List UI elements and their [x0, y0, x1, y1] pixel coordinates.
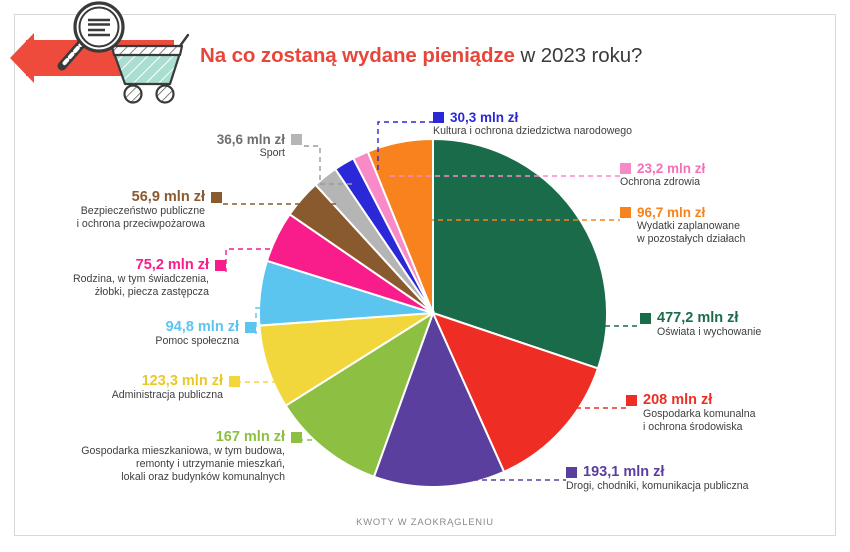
swatch-oswiata [640, 313, 651, 324]
label-pozostale[interactable]: 96,7 mln zł Wydatki zaplanowane w pozost… [620, 205, 745, 246]
swatch-drogi [566, 467, 577, 478]
swatch-pomoc [245, 322, 256, 333]
label-kultura[interactable]: 30,3 mln zł Kultura i ochrona dziedzictw… [433, 110, 632, 138]
label-pozostale-amount: 96,7 mln zł [637, 205, 705, 220]
label-sport-amount: 36,6 mln zł [217, 132, 285, 147]
label-rodzina[interactable]: 75,2 mln zł Rodzina, w tym świadczenia, … [0, 258, 226, 299]
label-zdrowie-desc: Ochrona zdrowia [620, 176, 705, 189]
label-oswiata-desc: Oświata i wychowanie [657, 326, 761, 339]
label-mieszkaniowa-amount: 167 mln zł [216, 430, 285, 445]
label-oswiata[interactable]: 477,2 mln zł Oświata i wychowanie [640, 311, 761, 339]
page-title-highlight: Na co zostaną wydane pieniądze [200, 44, 515, 67]
page-title: Na co zostaną wydane pieniądze w 2023 ro… [200, 44, 642, 68]
label-bezpieczenstwo[interactable]: 56,9 mln zł Bezpieczeństwo publiczne i o… [0, 190, 222, 231]
header: Na co zostaną wydane pieniądze w 2023 ro… [0, 0, 850, 110]
swatch-bezpieczenstwo [211, 192, 222, 203]
label-kultura-amount: 30,3 mln zł [450, 110, 518, 125]
label-drogi-desc: Drogi, chodniki, komunikacja publiczna [566, 480, 749, 493]
swatch-zdrowie [620, 163, 631, 174]
label-rodzina-desc-2: żłobki, piecza zastępcza [0, 286, 209, 299]
infographic-root: Na co zostaną wydane pieniądze w 2023 ro… [0, 0, 850, 552]
label-kultura-desc: Kultura i ochrona dziedzictwa narodowego [433, 125, 632, 138]
label-administracja[interactable]: 123,3 mln zł Administracja publiczna [0, 374, 240, 402]
swatch-kultura [433, 112, 444, 123]
label-bezpieczenstwo-amount: 56,9 mln zł [132, 190, 205, 205]
label-mieszkaniowa-desc-1: Gospodarka mieszkaniowa, w tym budowa, [0, 445, 285, 458]
label-zdrowie[interactable]: 23,2 mln zł Ochrona zdrowia [620, 161, 705, 189]
label-komunalna-desc-1: Gospodarka komunalna [643, 408, 755, 421]
label-mieszkaniowa[interactable]: 167 mln zł Gospodarka mieszkaniowa, w ty… [0, 430, 302, 485]
swatch-administracja [229, 376, 240, 387]
swatch-pozostale [620, 207, 631, 218]
label-mieszkaniowa-desc-3: lokali oraz budynków komunalnych [0, 471, 285, 484]
label-zdrowie-amount: 23,2 mln zł [637, 161, 705, 176]
magnifying-glass-icon [55, 0, 141, 86]
label-drogi-amount: 193,1 mln zł [583, 465, 664, 480]
label-administracja-desc: Administracja publiczna [0, 389, 223, 402]
swatch-sport [291, 134, 302, 145]
label-pozostale-desc-1: Wydatki zaplanowane [637, 220, 745, 233]
label-drogi[interactable]: 193,1 mln zł Drogi, chodniki, komunikacj… [566, 465, 749, 493]
swatch-rodzina [215, 260, 226, 271]
label-bezpieczenstwo-desc-2: i ochrona przeciwpożarowa [0, 218, 205, 231]
label-oswiata-amount: 477,2 mln zł [657, 311, 738, 326]
label-sport-desc: Sport [0, 147, 285, 160]
label-pozostale-desc-2: w pozostałych działach [637, 233, 745, 246]
swatch-komunalna [626, 395, 637, 406]
label-bezpieczenstwo-desc-1: Bezpieczeństwo publiczne [0, 205, 205, 218]
label-mieszkaniowa-desc-2: remonty i utrzymanie mieszkań, [0, 458, 285, 471]
label-pomoc-desc: Pomoc społeczna [0, 335, 239, 348]
footnote: KWOTY W ZAOKRĄGLENIU [0, 516, 850, 527]
label-sport[interactable]: 36,6 mln zł Sport [0, 132, 302, 160]
label-rodzina-desc-1: Rodzina, w tym świadczenia, [0, 273, 209, 286]
label-komunalna-desc-2: i ochrona środowiska [643, 421, 755, 434]
label-komunalna[interactable]: 208 mln zł Gospodarka komunalna i ochron… [626, 393, 755, 434]
label-rodzina-amount: 75,2 mln zł [136, 258, 209, 273]
label-komunalna-amount: 208 mln zł [643, 393, 712, 408]
page-title-rest: w 2023 roku? [515, 44, 642, 67]
swatch-mieszkaniowa [291, 432, 302, 443]
label-administracja-amount: 123,3 mln zł [142, 374, 223, 389]
label-pomoc-amount: 94,8 mln zł [166, 320, 239, 335]
label-pomoc[interactable]: 94,8 mln zł Pomoc społeczna [0, 320, 256, 348]
